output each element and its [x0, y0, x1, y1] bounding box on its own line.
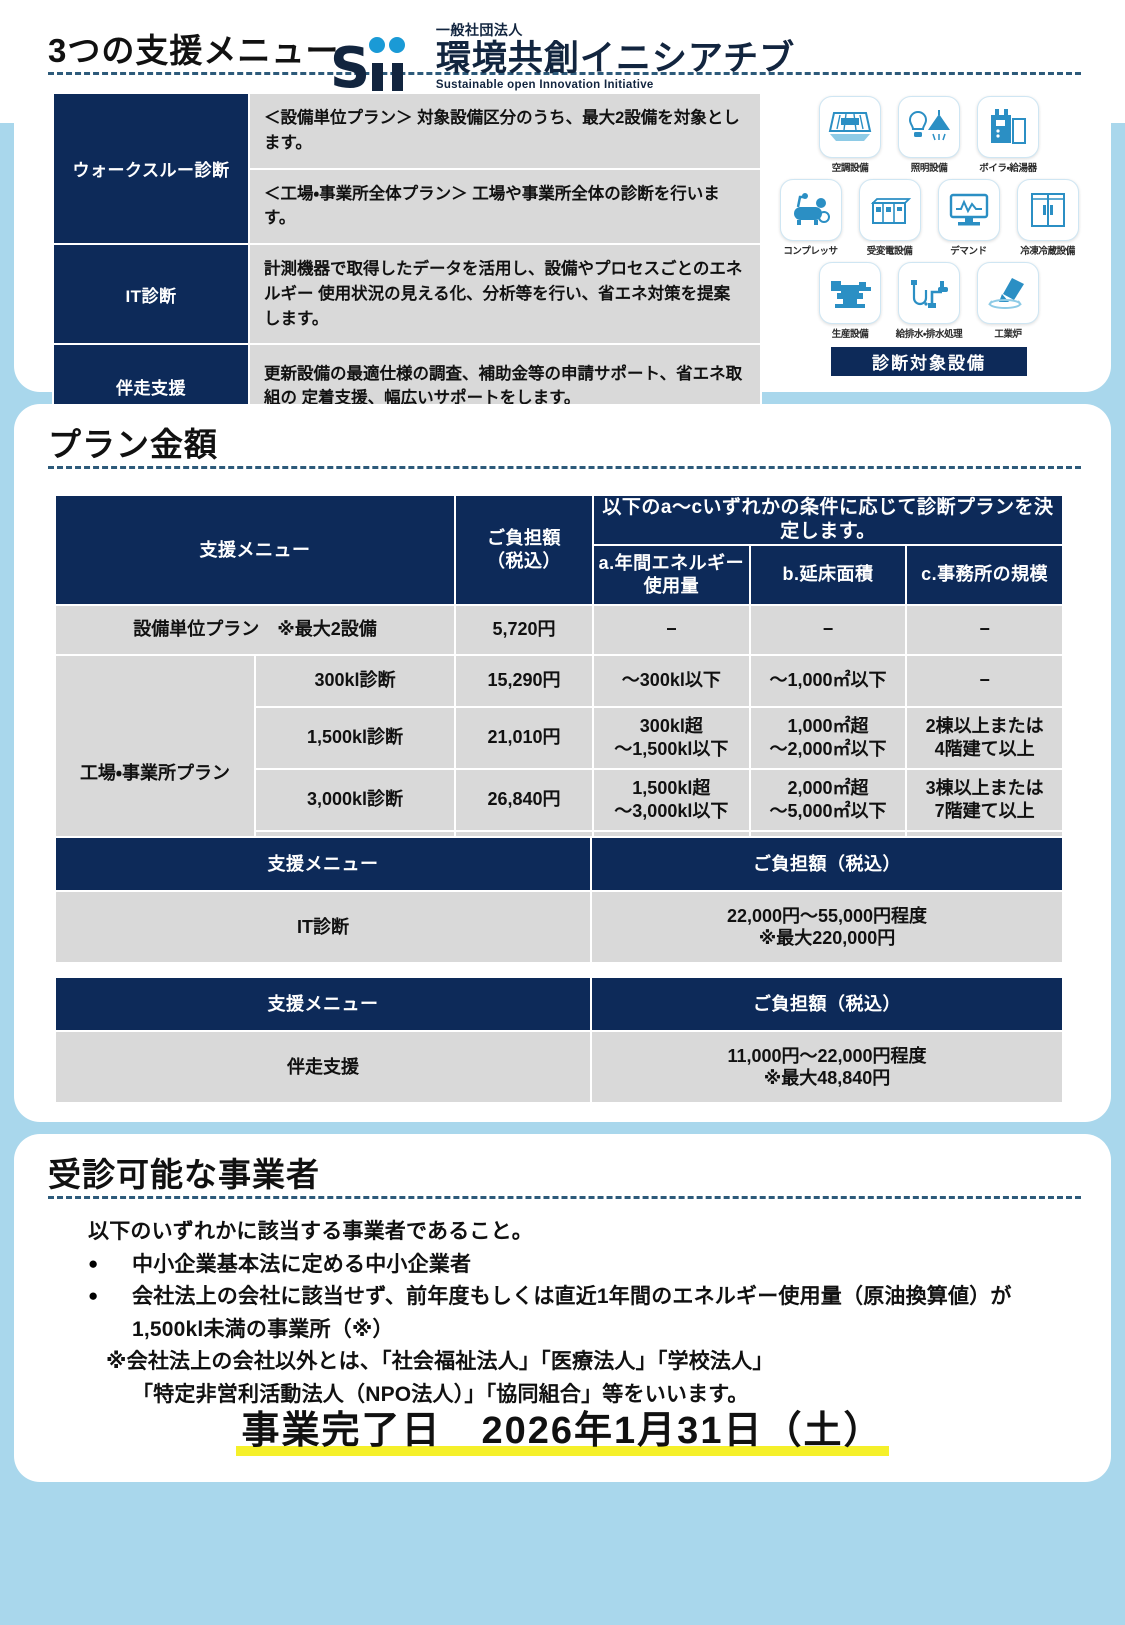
equipment-item: 給排水・排水処理 [893, 262, 965, 340]
menu-label-walkthrough: ウォークスルー診断 [53, 93, 249, 244]
heading-divider [48, 466, 1081, 469]
water-supply-icon [898, 262, 960, 324]
menu-body-it: 計測機器で取得したデータを活用し、設備やプロセスごとのエネルギー 使用状況の見え… [249, 244, 761, 344]
banso-price-table: 支援メニュー ご負担額（税込） 伴走支援 11,000円〜22,000円程度 ※… [54, 976, 1064, 1104]
table-row: ウォークスルー診断 ＜設備単位プラン＞ 対象設備区分のうち、最大2設備を対象とし… [53, 93, 761, 169]
cell-unit-plan-a: − [593, 605, 750, 655]
cell-c-3000kl: 3棟以上または 7階建て以上 [906, 769, 1063, 831]
table-row: IT診断 計測機器で取得したデータを活用し、設備やプロセスごとのエネルギー 使用… [53, 244, 761, 344]
menu-label-it: IT診断 [53, 244, 249, 344]
sii-logomark-icon: S [330, 35, 422, 93]
equipment-row: コンプレッサ 受変電設備 [774, 179, 1084, 257]
equipment-row: 空調設備 照明設備 [774, 96, 1084, 174]
cell-b-300kl: 〜1,000㎡以下 [750, 655, 907, 707]
col-header-fee-it: ご負担額（税込） [591, 837, 1063, 891]
menu-body-factory-plan: ＜工場・事業所全体プラン＞ 工場や事業所全体の診断を行います。 [249, 169, 761, 245]
cell-unit-plan-b: − [750, 605, 907, 655]
cell-b-3000kl: 2,000㎡超 〜5,000㎡以下 [750, 769, 907, 831]
logo-organization-name: 環境共創イニシアチブ [436, 40, 795, 79]
equipment-row: 生産設備 給排水・排水処理 [774, 262, 1084, 340]
cell-plan-3000kl: 3,000kl診断 [255, 769, 455, 831]
deadline-text: 事業完了日 2026年1月31日（土） [236, 1399, 890, 1456]
cell-it-fee: 22,000円〜55,000円程度 ※最大220,000円 [591, 891, 1063, 963]
menu-body-equipment-plan: ＜設備単位プラン＞ 対象設備区分のうち、最大2設備を対象とします。 [249, 93, 761, 169]
sii-logo: S 一般社団法人 環境共創イニシアチブ Sustainable open Inn… [0, 20, 1125, 93]
main-price-table: 支援メニュー ご負担額 （税込） 以下のa〜cいずれかの条件に応じて診断プランを… [54, 494, 1064, 894]
heading-divider [48, 1196, 1081, 1199]
equipment-caption: 照明設備 [893, 160, 965, 174]
equipment-item: 照明設備 [893, 96, 965, 174]
col-header-fee: ご負担額 （税込） [455, 495, 593, 605]
eligibility-intro: 以下のいずれかに該当する事業者であること。 [88, 1216, 1088, 1249]
equipment-caption: 空調設備 [814, 160, 886, 174]
logo-corporate-type: 一般社団法人 [436, 20, 795, 40]
cell-fee-3000kl: 26,840円 [455, 769, 593, 831]
refrigeration-icon [1017, 179, 1079, 241]
status-badge: 診断対象設備 [831, 347, 1027, 376]
lighting-icon [898, 96, 960, 158]
table-row: 工場・事業所プラン 300kl診断 15,290円 〜300kl以下 〜1,00… [55, 655, 1063, 707]
eligibility-bullet-2: 会社法上の会社に該当せず、前年度もしくは直近1年間のエネルギー使用量（原油換算値… [132, 1281, 1012, 1346]
equipment-caption: 工業炉 [972, 326, 1044, 340]
eligibility-bullet-1: 中小企業基本法に定める中小企業者 [132, 1249, 471, 1282]
substation-icon [859, 179, 921, 241]
equipment-caption: コンプレッサ [775, 243, 847, 257]
logo-dot-2 [389, 37, 405, 53]
cell-unit-plan-fee: 5,720円 [455, 605, 593, 655]
cell-c-300kl: − [906, 655, 1063, 707]
list-item: ● 中小企業基本法に定める中小企業者 [88, 1249, 1088, 1282]
col-header-cond-c: c.事務所の規模 [906, 545, 1063, 605]
industrial-furnace-icon [977, 262, 1039, 324]
col-header-menu-banso: 支援メニュー [55, 977, 591, 1031]
logo-organization-name-en: Sustainable open Innovation Initiative [436, 79, 795, 91]
table-header-row: 支援メニュー ご負担額 （税込） 以下のa〜cいずれかの条件に応じて診断プランを… [55, 495, 1063, 545]
cell-a-300kl: 〜300kl以下 [593, 655, 750, 707]
equipment-caption: 受変電設備 [854, 243, 926, 257]
table-header-row: 支援メニュー ご負担額（税込） [55, 837, 1063, 891]
col-header-fee-banso: ご負担額（税込） [591, 977, 1063, 1031]
cell-unit-plan-c: − [906, 605, 1063, 655]
plan-price-panel: プラン金額 支援メニュー ご負担額 （税込） 以下のa〜cいずれかの条件に応じて… [14, 404, 1111, 1122]
equipment-item: コンプレッサ [775, 179, 847, 257]
air-conditioner-icon [819, 96, 881, 158]
equipment-item: デマンド [933, 179, 1005, 257]
list-item: ● 会社法上の会社に該当せず、前年度もしくは直近1年間のエネルギー使用量（原油換… [88, 1281, 1088, 1346]
col-header-menu: 支援メニュー [55, 495, 455, 605]
section-title-price: プラン金額 [48, 418, 218, 466]
compressor-icon [780, 179, 842, 241]
logo-letter-i-1 [372, 63, 383, 91]
cell-fee-300kl: 15,290円 [455, 655, 593, 707]
cell-plan-1500kl: 1,500kl診断 [255, 707, 455, 769]
table-header-row: 支援メニュー ご負担額（税込） [55, 977, 1063, 1031]
cell-c-1500kl: 2棟以上または 4階建て以上 [906, 707, 1063, 769]
equipment-caption: ボイラ・給湯器 [972, 160, 1044, 174]
cell-plan-300kl: 300kl診断 [255, 655, 455, 707]
cell-banso-menu: 伴走支援 [55, 1031, 591, 1103]
equipment-item: 工業炉 [972, 262, 1044, 340]
cell-it-menu: IT診断 [55, 891, 591, 963]
eligibility-panel: 受診可能な事業者 以下のいずれかに該当する事業者であること。 ● 中小企業基本法… [14, 1134, 1111, 1482]
equipment-icon-grid: 空調設備 照明設備 [774, 96, 1084, 376]
equipment-caption: 給排水・排水処理 [893, 326, 965, 340]
eligibility-heading: 受診可能な事業者 [14, 1134, 1111, 1196]
cell-a-1500kl: 300kl超 〜1,500kl以下 [593, 707, 750, 769]
equipment-item: 空調設備 [814, 96, 886, 174]
plan-price-heading: プラン金額 [14, 404, 1111, 466]
cell-fee-1500kl: 21,010円 [455, 707, 593, 769]
equipment-item: 冷凍冷蔵設備 [1012, 179, 1084, 257]
deadline-banner: 事業完了日 2026年1月31日（土） [14, 1399, 1111, 1456]
table-row: 伴走支援 11,000円〜22,000円程度 ※最大48,840円 [55, 1031, 1063, 1103]
production-machine-icon [819, 262, 881, 324]
eligibility-note-1: ※会社法上の会社以外とは、「社会福祉法人」「医療法人」「学校法人」 [88, 1346, 1088, 1379]
col-header-cond-a: a.年間エネルギー 使用量 [593, 545, 750, 605]
logo-dot-1 [369, 37, 385, 53]
table-row: IT診断 22,000円〜55,000円程度 ※最大220,000円 [55, 891, 1063, 963]
col-header-condition-note: 以下のa〜cいずれかの条件に応じて診断プランを決定します。 [593, 495, 1063, 545]
logo-letter-s: S [330, 41, 370, 97]
bullet-icon: ● [88, 1281, 132, 1311]
cell-unit-plan-menu: 設備単位プラン ※最大2設備 [55, 605, 455, 655]
table-row: 設備単位プラン ※最大2設備 5,720円 − − − [55, 605, 1063, 655]
demand-monitor-icon [938, 179, 1000, 241]
equipment-caption: 冷凍冷蔵設備 [1012, 243, 1084, 257]
cell-b-1500kl: 1,000㎡超 〜2,000㎡以下 [750, 707, 907, 769]
equipment-item: 生産設備 [814, 262, 886, 340]
it-price-table: 支援メニュー ご負担額（税込） IT診断 22,000円〜55,000円程度 ※… [54, 836, 1064, 964]
bullet-icon: ● [88, 1249, 132, 1279]
section-title-eligibility: 受診可能な事業者 [48, 1148, 320, 1196]
col-header-menu-it: 支援メニュー [55, 837, 591, 891]
eligibility-content: 以下のいずれかに該当する事業者であること。 ● 中小企業基本法に定める中小企業者… [88, 1216, 1088, 1411]
logo-text-block: 一般社団法人 環境共創イニシアチブ Sustainable open Innov… [436, 20, 795, 93]
equipment-item: ボイラ・給湯器 [972, 96, 1044, 174]
logo-letter-i-2 [392, 63, 403, 91]
boiler-icon [977, 96, 1039, 158]
support-menu-table: ウォークスルー診断 ＜設備単位プラン＞ 対象設備区分のうち、最大2設備を対象とし… [52, 92, 762, 429]
cell-a-3000kl: 1,500kl超 〜3,000kl以下 [593, 769, 750, 831]
equipment-item: 受変電設備 [854, 179, 926, 257]
equipment-caption: 生産設備 [814, 326, 886, 340]
cell-banso-fee: 11,000円〜22,000円程度 ※最大48,840円 [591, 1031, 1063, 1103]
equipment-caption: デマンド [933, 243, 1005, 257]
col-header-cond-b: b.延床面積 [750, 545, 907, 605]
